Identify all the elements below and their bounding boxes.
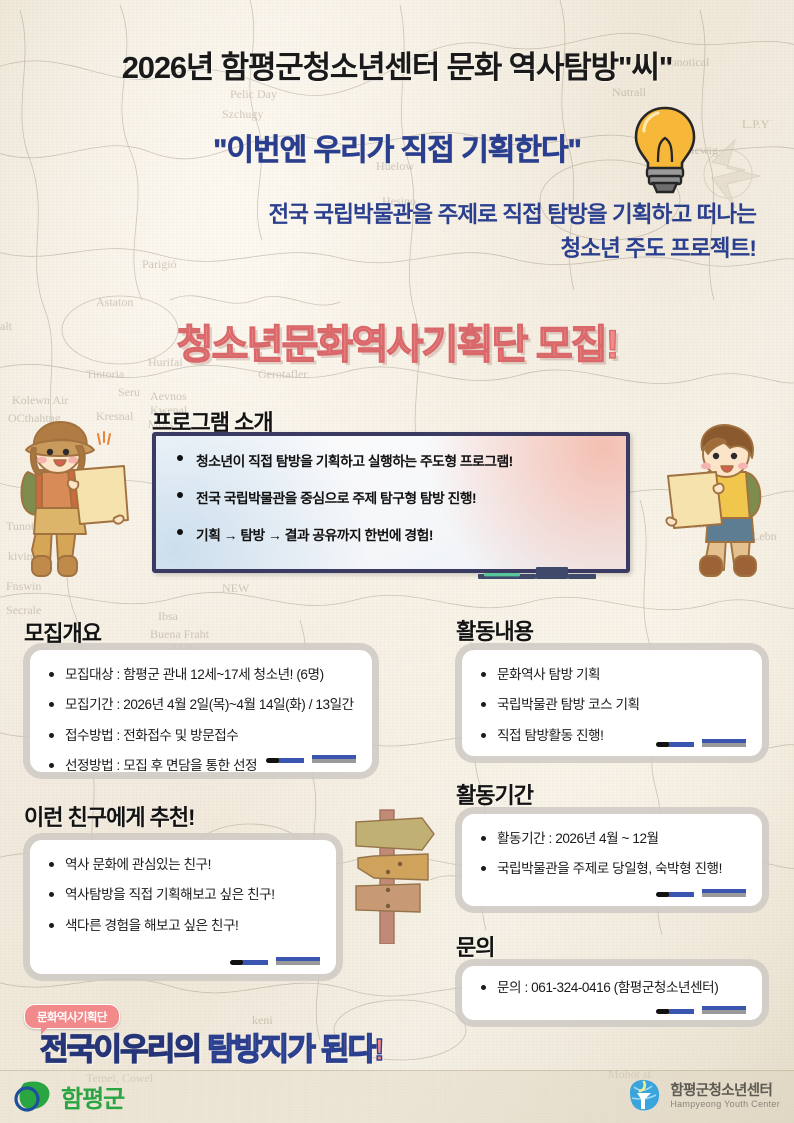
center-name-kr: 함평군청소년센터: [670, 1083, 780, 1100]
program-intro-box: 청소년이 직접 탐방을 기획하고 실행하는 주도형 프로그램! 전국 국립박물관…: [152, 432, 630, 573]
list-item: 기획 → 탐방 → 결과 공유까지 한번에 경험!: [174, 524, 610, 544]
marker-pen-icon: [230, 955, 322, 967]
svg-text:Buena Fraht: Buena Fraht: [150, 627, 210, 641]
svg-text:Seru: Seru: [118, 385, 140, 399]
list-item: 색다른 경험을 해보고 싶은 친구!: [46, 916, 322, 935]
recommend-card: 역사 문화에 관심있는 친구! 역사탐방을 직접 기획해보고 싶은 친구! 색다…: [30, 840, 336, 974]
county-emblem-icon: [12, 1077, 54, 1115]
list-item: 모집기간 : 2026년 4월 2일(목)~4월 14일(화) / 13일간: [46, 695, 358, 714]
marker-pen-icon: [656, 1004, 748, 1016]
recruit-card: 모집대상 : 함평군 관내 12세~17세 청소년! (6명) 모집기간 : 2…: [30, 650, 372, 772]
youth-center-logo: 함평군청소년센터 Hampyeong Youth Center: [624, 1078, 780, 1114]
svg-text:Szchugy: Szchugy: [222, 107, 263, 121]
subtitle-block: 전국 국립박물관을 주제로 직접 탐방을 기획하고 떠나는 청소년 주도 프로젝…: [30, 198, 756, 266]
board-tray-icon: [478, 567, 596, 579]
list-item: 국립박물관 탐방 코스 기획: [478, 695, 748, 714]
program-list: 청소년이 직접 탐방을 기획하고 실행하는 주도형 프로그램! 전국 국립박물관…: [174, 450, 610, 544]
marker-pen-icon: [266, 753, 358, 765]
svg-text:Nutrall: Nutrall: [612, 85, 647, 99]
contact-heading: 문의: [456, 930, 494, 962]
activity-card: 문화역사 탐방 기획 국립박물관 탐방 코스 기획 직접 탐방활동 진행!: [462, 650, 762, 756]
poster-canvas: Pelic Day Szchugy Huelow Hesino Parigió …: [0, 0, 794, 1123]
activity-list: 문화역사 탐방 기획 국립박물관 탐방 코스 기획 직접 탐방활동 진행!: [478, 665, 748, 745]
activity-heading: 활동내용: [456, 614, 533, 646]
svg-text:Astaton: Astaton: [96, 295, 133, 309]
marker-pen-icon: [656, 737, 748, 749]
contact-list: 문의 : 061-324-0416 (함평군청소년센터): [478, 978, 748, 997]
list-item: 활동기간 : 2026년 4월 ~ 12월: [478, 829, 748, 848]
ribbon-slogan-part2: 우리의: [120, 1032, 200, 1067]
subtitle-line-2: 청소년 주도 프로젝트!: [30, 232, 756, 266]
footer-bar: 함평군 함평군청소년센터 Hampyeong Youth Center: [0, 1070, 794, 1123]
period-list: 활동기간 : 2026년 4월 ~ 12월 국립박물관을 주제로 당일형, 숙박…: [478, 829, 748, 879]
contact-card: 문의 : 061-324-0416 (함평군청소년센터): [462, 966, 762, 1020]
hampyeong-county-logo: 함평군: [12, 1077, 124, 1115]
ribbon-slogan: 전국이우리의 탐방지가 된다!: [40, 1024, 383, 1069]
county-name: 함평군: [61, 1079, 124, 1114]
youth-center-emblem-icon: [624, 1078, 662, 1114]
recommend-heading: 이런 친구에게 추천!: [24, 800, 194, 832]
svg-text:Kolewn Air: Kolewn Air: [12, 393, 68, 407]
marker-pen-icon: [656, 887, 748, 899]
list-item: 국립박물관을 주제로 당일형, 숙박형 진행!: [478, 859, 748, 878]
period-heading: 활동기간: [456, 778, 533, 810]
list-item: 역사탐방을 직접 기획해보고 싶은 친구!: [46, 885, 322, 904]
list-item: 문의 : 061-324-0416 (함평군청소년센터): [478, 978, 748, 997]
period-card: 활동기간 : 2026년 4월 ~ 12월 국립박물관을 주제로 당일형, 숙박…: [462, 814, 762, 906]
list-item: 모집대상 : 함평군 관내 12세~17세 청소년! (6명): [46, 665, 358, 684]
list-item: 청소년이 직접 탐방을 기획하고 실행하는 주도형 프로그램!: [174, 450, 610, 470]
list-item: 역사 문화에 관심있는 친구!: [46, 855, 322, 874]
center-name-en: Hampyeong Youth Center: [670, 1099, 780, 1109]
list-item: 전국 국립박물관을 중심으로 주제 탐구형 탐방 진행!: [174, 487, 610, 507]
headline-recruit: 청소년문화역사기획단 모집!: [0, 312, 794, 370]
svg-text:NEW: NEW: [222, 581, 250, 595]
ribbon-slogan-part1: 전국이: [40, 1032, 120, 1067]
list-item: 접수방법 : 전화접수 및 방문접수: [46, 726, 358, 745]
ribbon-slogan-part3: 탐방지가 된다!: [207, 1032, 383, 1067]
recommend-list: 역사 문화에 관심있는 친구! 역사탐방을 직접 기획해보고 싶은 친구! 색다…: [46, 855, 322, 935]
recruit-heading: 모집개요: [24, 616, 101, 648]
page-title: 2026년 함평군청소년센터 문화 역사탐방"씨": [0, 42, 794, 87]
svg-text:Ibsa: Ibsa: [158, 609, 179, 623]
boy-explorer-illustration: [664, 414, 788, 592]
lightbulb-icon: [628, 104, 702, 194]
list-item: 문화역사 탐방 기획: [478, 665, 748, 684]
subtitle-line-1: 전국 국립박물관을 주제로 직접 탐방을 기획하고 떠나는: [30, 198, 756, 232]
svg-text:Secrale: Secrale: [6, 603, 41, 617]
svg-text:Aevnos: Aevnos: [150, 389, 187, 403]
wooden-signpost-illustration: [344, 792, 452, 944]
svg-text:Pelic Day: Pelic Day: [230, 87, 277, 101]
girl-explorer-illustration: [6, 408, 134, 590]
